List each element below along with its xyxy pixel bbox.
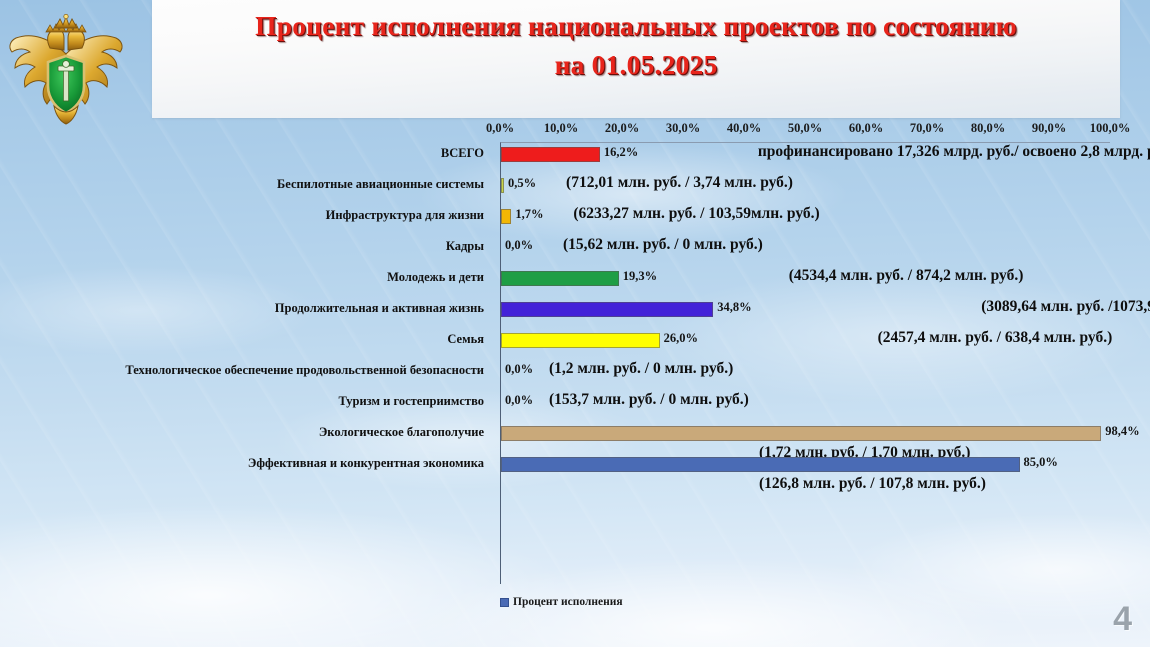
bar-value-label-1: 0,5% <box>508 176 536 191</box>
category-label-7: Технологическое обеспечение продовольств… <box>0 363 492 378</box>
bar-0[interactable] <box>501 147 600 162</box>
bar-4[interactable] <box>501 271 619 286</box>
x-axis-tick-2: 20,0% <box>605 121 639 136</box>
chart-row: 0,5%(712,01 млн. руб. / 3,74 млн. руб.) <box>501 174 1111 205</box>
bar-annotation-8: (153,7 млн. руб. / 0 млн. руб.) <box>549 391 749 409</box>
chart-legend: Процент исполнения <box>500 596 623 608</box>
bar-annotation-2: (6233,27 млн. руб. / 103,59млн. руб.) <box>573 205 819 223</box>
chart-row: 0,0%(15,62 млн. руб. / 0 млн. руб.) <box>501 236 1111 267</box>
category-label-6: Семья <box>0 332 492 347</box>
category-label-2: Инфраструктура для жизни <box>0 208 492 223</box>
bar-value-label-5: 34,8% <box>717 300 751 315</box>
x-axis-tick-9: 90,0% <box>1032 121 1066 136</box>
bar-annotation-6: (2457,4 млн. руб. / 638,4 млн. руб.) <box>878 329 1113 347</box>
category-label-3: Кадры <box>0 239 492 254</box>
x-axis-tick-6: 60,0% <box>849 121 883 136</box>
x-axis-tick-3: 30,0% <box>666 121 700 136</box>
bar-9[interactable] <box>501 426 1101 441</box>
bar-annotation-1: (712,01 млн. руб. / 3,74 млн. руб.) <box>566 174 793 192</box>
bar-2[interactable] <box>501 209 511 224</box>
x-axis-tick-10: 100,0% <box>1090 121 1131 136</box>
category-label-10: Эффективная и конкурентная экономика <box>0 456 492 471</box>
bar-10[interactable] <box>501 457 1020 472</box>
page-number: 4 <box>1113 600 1132 639</box>
legend-swatch-icon <box>500 598 509 607</box>
plot-area: 16,2%профинансировано 17,326 млрд. руб./… <box>500 142 1110 584</box>
chart-row: 85,0%(126,8 млн. руб. / 107,8 млн. руб.) <box>501 453 1111 484</box>
category-axis-labels: ВСЕГОБеспилотные авиационные системыИнфр… <box>0 142 492 584</box>
chart-row: 1,7%(6233,27 млн. руб. / 103,59млн. руб.… <box>501 205 1111 236</box>
bar-annotation-0: профинансировано 17,326 млрд. руб./ осво… <box>758 143 1150 161</box>
chart-row: 16,2%профинансировано 17,326 млрд. руб./… <box>501 143 1111 174</box>
bar-value-label-7: 0,0% <box>505 362 533 377</box>
category-label-0: ВСЕГО <box>0 146 492 161</box>
bar-1[interactable] <box>501 178 504 193</box>
bar-value-label-10: 85,0% <box>1024 455 1058 470</box>
category-label-5: Продолжительная и активная жизнь <box>0 301 492 316</box>
bar-6[interactable] <box>501 333 660 348</box>
x-axis-tick-labels: 0,0%10,0%20,0%30,0%40,0%50,0%60,0%70,0%8… <box>500 121 1110 137</box>
x-axis-tick-8: 80,0% <box>971 121 1005 136</box>
x-axis-tick-0: 0,0% <box>486 121 514 136</box>
category-label-9: Экологическое благополучие <box>0 425 492 440</box>
bar-value-label-2: 1,7% <box>515 207 543 222</box>
category-label-8: Туризм и гостеприимство <box>0 394 492 409</box>
bar-annotation-3: (15,62 млн. руб. / 0 млн. руб.) <box>563 236 763 254</box>
chart-row: 98,4%(1,72 млн. руб. / 1,70 млн. руб.) <box>501 422 1111 453</box>
category-label-4: Молодежь и дети <box>0 270 492 285</box>
bar-value-label-4: 19,3% <box>623 269 657 284</box>
bar-annotation-5: (3089,64 млн. руб. /1073,93 млн. руб.) <box>981 298 1150 316</box>
bar-chart: 0,0%10,0%20,0%30,0%40,0%50,0%60,0%70,0%8… <box>0 0 1150 647</box>
chart-row: 0,0%(1,2 млн. руб. / 0 млн. руб.) <box>501 360 1111 391</box>
chart-row: 34,8%(3089,64 млн. руб. /1073,93 млн. ру… <box>501 298 1111 329</box>
bar-value-label-0: 16,2% <box>604 145 638 160</box>
bar-annotation-10: (126,8 млн. руб. / 107,8 млн. руб.) <box>759 475 986 493</box>
bar-5[interactable] <box>501 302 713 317</box>
x-axis-tick-7: 70,0% <box>910 121 944 136</box>
chart-row: 26,0%(2457,4 млн. руб. / 638,4 млн. руб.… <box>501 329 1111 360</box>
slide-canvas: Процент исполнения национальных проектов… <box>0 0 1150 647</box>
x-axis-tick-1: 10,0% <box>544 121 578 136</box>
x-axis-tick-5: 50,0% <box>788 121 822 136</box>
chart-row: 0,0%(153,7 млн. руб. / 0 млн. руб.) <box>501 391 1111 422</box>
legend-label: Процент исполнения <box>513 596 623 608</box>
bar-value-label-9: 98,4% <box>1105 424 1139 439</box>
bar-value-label-3: 0,0% <box>505 238 533 253</box>
x-axis-tick-4: 40,0% <box>727 121 761 136</box>
bar-annotation-4: (4534,4 млн. руб. / 874,2 млн. руб.) <box>789 267 1024 285</box>
category-label-1: Беспилотные авиационные системы <box>0 177 492 192</box>
bar-annotation-7: (1,2 млн. руб. / 0 млн. руб.) <box>549 360 733 378</box>
bar-value-label-8: 0,0% <box>505 393 533 408</box>
chart-row: 19,3%(4534,4 млн. руб. / 874,2 млн. руб.… <box>501 267 1111 298</box>
bar-value-label-6: 26,0% <box>664 331 698 346</box>
